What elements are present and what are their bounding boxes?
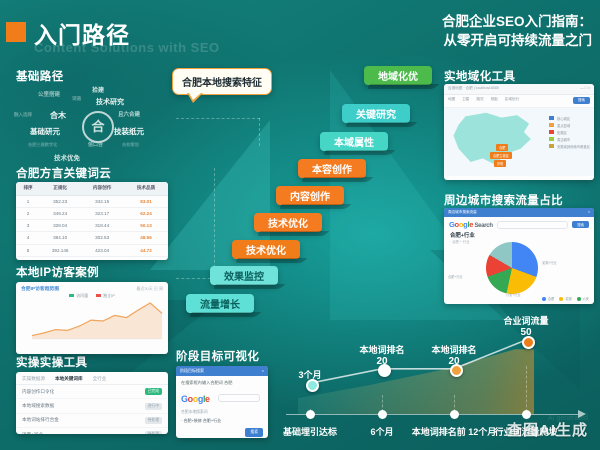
timeline-caption-value: 50 [482,327,570,338]
line-chart-plot [16,299,168,347]
table-cell: 50.13 [124,220,168,232]
pie-legend-item-1: 芜湖 [554,297,571,301]
infographic-canvas: 入门路径 Content Solutions with SEO 合肥企业SEO入… [0,0,600,450]
connector-line-h1 [176,118,260,119]
map-legend: 核心城区重点县域拓展区周边城市安徽省其他地市覆盖区 [549,116,590,151]
word-cloud-term-12: 技术优免 [54,152,80,162]
watermark: 查图AI生成 [507,419,588,440]
map-legend-item-2: 拓展区 [549,130,590,137]
section-title-practice-tools: 实操实操工具 [16,354,87,370]
tool-row-badge: 待处理 [145,417,162,424]
table-cell: 1 [16,195,40,207]
map-legend-item-1: 重点县域 [549,123,590,130]
google-card-hint: 在搜索框内输入合肥词 合肥 [181,380,263,386]
tool-card-rows: 内容创作口令化已完成本地域搜索数据进行中本地词站排行合金待处理流量+行业待处理 [16,385,168,434]
pie-chart [486,242,538,294]
google-card-body: 在搜索框内输入合肥词 合肥 Google 合肥本地搜索词 · 合肥+装修 合肥+… [176,376,268,428]
word-cloud-term-0: 公里搭建 [38,90,60,98]
tool-tab-1[interactable]: 本地关键词库 [55,376,83,382]
close-icon[interactable]: × [588,210,590,215]
map-card-body[interactable]: 合肥 合肥主城区 庐阳 核心城区重点县域拓展区周边城市安徽省其他地市覆盖区 [444,108,594,176]
google-search-button[interactable]: 搜索 [245,428,263,436]
map-legend-item-4: 安徽省其他地市覆盖区 [549,144,590,151]
google-card-chips[interactable]: · 合肥+装修 合肥+行业 [181,418,263,424]
tool-row-0[interactable]: 内容创作口令化已完成 [16,385,168,399]
table-cell: 5 [16,244,40,256]
table-row[interactable]: 3328.04318.4450.13 [16,220,168,232]
tool-row-label: 内容创作口令化 [22,389,54,395]
pie-card-search-input[interactable] [497,221,569,229]
map-tool-3[interactable]: 测距 [491,97,498,104]
table-cell: 44.72 [124,244,168,256]
pie-label-right: 芜湖+行业 [542,260,557,265]
map-search-button[interactable]: 搜索 [573,97,590,104]
staircase-step-4[interactable]: 内容创作 [276,186,344,205]
google-logo-row: Google [181,389,263,407]
tool-row-badge: 已完成 [145,388,162,395]
timeline-axis-dot-1 [378,410,387,419]
keyword-table-card: 排序正规化内容创作技术品质 1352.23342.1583.012349.243… [16,182,168,260]
map-tool-4[interactable]: 区域划分 [505,97,519,104]
google-card-title: 阶段目标搜索 [180,368,204,374]
table-row[interactable]: 5392.146423.0444.72 [16,244,168,256]
word-cloud-term-4: 融入选择 [14,112,32,118]
timeline-axis [286,414,578,416]
keyword-table: 排序正规化内容创作技术品质 1352.23342.1583.012349.243… [16,182,168,257]
word-cloud-term-7: 基础研元 [30,126,60,137]
timeline-axis-dot-3 [522,410,531,419]
table-cell: 352.23 [40,195,80,207]
table-cell: 323.17 [80,207,124,219]
section-title-dialect-cloud: 合肥方言关键词云 [16,165,111,181]
map-card-addressbar: 百度地图 · 合肥 | localhost:8080 — □ × [444,84,594,95]
timeline-axis-dot-2 [450,410,459,419]
section-title-nearby-city: 周边城市搜索流量占比 [444,192,563,208]
section-title-stage-goal: 阶段目标可视化 [176,348,259,364]
section-title-localization: 实地域化工具 [444,68,515,84]
timeline-caption-0: 3个月 [266,368,354,381]
map-legend-item-0: 核心城区 [549,116,590,123]
window-controls-icon[interactable]: — □ × [580,86,590,91]
staircase-step-8[interactable]: 地域化优 [364,66,432,85]
tool-row-label: 本地词站排行合金 [22,417,59,423]
pie-label-left: 合肥+行业 [448,274,463,279]
google-card-titlebar: 阶段目标搜索 × [176,366,268,376]
word-cloud-term-11: 合和策划 [122,142,139,148]
map-tool-2[interactable]: 路况 [476,97,483,104]
staircase-step-5[interactable]: 本容创作 [298,159,366,178]
local-ip-line-chart-card: 合肥IP访客趋势图 最近30天 日 周 访问量独立IP [16,282,168,354]
table-row[interactable]: 4384.10302.5348.56 [16,232,168,244]
tool-row-label: 本地域搜索数据 [22,403,54,409]
google-card-sub: 合肥本地搜索词 [181,410,263,415]
pie-card-title: 周边城市搜索流量 [448,210,477,215]
word-cloud-term-1: 拾建 [92,85,104,94]
table-cell: 62.24 [124,207,168,219]
table-cell: 48.56 [124,232,168,244]
header-right-line2: 从零开启可持续流量之门 [442,31,592,50]
word-cloud-seal: 合 [82,111,114,143]
line-chart-controls[interactable]: 最近30天 日 周 [136,286,163,292]
table-cell: 3 [16,220,40,232]
header-accent-bar [6,22,26,42]
word-cloud-term-9: 合肥三维数字化 [28,142,57,148]
nearby-city-pie-card: 周边城市搜索流量 × Google Search 搜索 合肥+行业 · 合肥 +… [444,208,594,304]
table-row[interactable]: 2349.24323.1762.24 [16,207,168,219]
word-cloud-term-8: 技装纸元 [114,126,144,137]
table-cell: 392.146 [40,244,80,256]
map-pin-0[interactable]: 合肥 [496,144,508,151]
table-header-cell-3: 技术品质 [124,182,168,195]
map-tool-0[interactable]: 地图 [448,97,455,104]
watermark-small: AI generated [548,415,588,422]
tool-row-1[interactable]: 本地域搜索数据进行中 [16,399,168,413]
map-card-url[interactable]: 百度地图 · 合肥 | localhost:8080 [448,86,499,91]
tool-row-2[interactable]: 本地词站排行合金待处理 [16,414,168,428]
table-cell: 342.15 [80,195,124,207]
close-icon[interactable]: × [262,368,264,374]
table-cell: 4 [16,232,40,244]
pie-label-bottom: 六安+行业 [506,292,521,297]
word-cloud-term-3: 词语 [72,96,81,102]
table-cell: 83.01 [124,195,168,207]
pie-card-searchbar: Google Search 搜索 [444,217,594,229]
section-title-local-ip: 本地IP访客案例 [16,264,99,280]
map-pin-2[interactable]: 庐阳 [494,160,506,167]
google-search-input[interactable] [218,394,260,402]
timeline-caption-title: 本地词排名 [410,343,498,356]
timeline-gridline-3 [526,366,527,412]
page-subtitle: Content Solutions with SEO [34,40,220,55]
google-search-logo-icon: Google Search [449,220,493,229]
tool-tab-0[interactable]: 实操数据源 [22,376,45,382]
staircase-step-7[interactable]: 关键研究 [342,104,410,123]
table-header-cell-2: 内容创作 [80,182,124,195]
timeline-caption-value: 20 [410,356,498,367]
map-tool-1[interactable]: 卫星 [462,97,469,104]
timeline-caption-3: 合业词流量50 [482,314,570,338]
pie-legend: 合肥芜湖六安 [537,296,589,301]
practice-tools-card: 实操数据源本地关键词库全行业 内容创作口令化已完成本地域搜索数据进行中本地词站排… [16,372,168,434]
pie-legend-item-0: 合肥 [537,297,554,301]
map-pin-1[interactable]: 合肥主城区 [490,152,512,159]
china-map-shape [450,112,536,172]
stage-goal-google-card: 阶段目标搜索 × 在搜索框内输入合肥词 合肥 Google 合肥本地搜索词 · … [176,366,268,438]
tool-row-badge: 进行中 [145,403,162,410]
connector-line-v1 [259,118,260,146]
tool-row-label: 流量+行业 [22,432,43,434]
pie-card-query: 合肥+行业 [444,229,594,239]
table-header-cell-1: 正规化 [40,182,80,195]
table-cell: 423.04 [80,244,124,256]
table-cell: 349.24 [40,207,80,219]
table-cell: 328.04 [40,220,80,232]
staircase-step-3[interactable]: 技术优化 [254,213,322,232]
connector-line-v2 [214,168,215,278]
table-body: 1352.23342.1583.012349.24323.1762.243328… [16,195,168,256]
word-cloud-term-6: 且六合建 [118,110,140,118]
map-legend-item-3: 周边城市 [549,137,590,144]
keyword-word-cloud: 合 公里搭建拾建技术研究词语融入选择合木且六合建基础研元技装纸元合肥三维数字化信… [14,84,182,162]
word-cloud-term-2: 技术研究 [96,97,124,107]
map-card-toolbar[interactable]: 地图卫星路况测距区域划分搜索 [444,95,594,108]
staircase-step-2[interactable]: 技术优化 [232,240,300,259]
staircase-step-6[interactable]: 本域属性 [320,132,388,151]
pie-legend-item-2: 六安 [572,297,589,301]
table-cell: 318.44 [80,220,124,232]
tool-tab-2[interactable]: 全行业 [93,376,107,382]
line-chart-toolbar: 合肥IP访客趋势图 最近30天 日 周 [16,282,168,292]
pie-card-search-button[interactable]: 搜索 [572,221,589,229]
localization-map-card: 百度地图 · 合肥 | localhost:8080 — □ × 地图卫星路况测… [444,84,594,180]
timeline-axis-dot-0 [306,410,315,419]
table-header-row: 排序正规化内容创作技术品质 [16,182,168,195]
pie-card-titlebar: 周边城市搜索流量 × [444,208,594,217]
table-cell: 302.53 [80,232,124,244]
tool-card-tabs[interactable]: 实操数据源本地关键词库全行业 [16,372,168,385]
table-header-cell-0: 排序 [16,182,40,195]
section-title-basic-path: 基础路径 [16,68,64,84]
callout-bubble: 合肥本地搜索特征 [172,68,272,95]
table-row[interactable]: 1352.23342.1583.01 [16,195,168,207]
word-cloud-term-10: 信口合 [88,141,103,148]
line-chart-title: 合肥IP访客趋势图 [21,285,59,292]
staircase-step-0[interactable]: 流量增长 [186,294,254,313]
table-cell: 384.10 [40,232,80,244]
tool-row-3[interactable]: 流量+行业待处理 [16,428,168,434]
staircase-step-1[interactable]: 效果监控 [210,266,278,285]
timeline-caption-2: 本地词排名20 [410,343,498,367]
timeline-caption-title: 合业词流量 [482,314,570,327]
timeline-caption-title: 3个月 [266,368,354,381]
google-logo-icon: Google [181,394,210,404]
header-right-block: 合肥企业SEO入门指南： 从零开启可持续流量之门 [442,12,592,50]
table-cell: 2 [16,207,40,219]
word-cloud-term-5: 合木 [50,110,66,121]
header-right-line1: 合肥企业SEO入门指南： [442,12,592,31]
tool-row-badge: 待处理 [145,431,162,434]
